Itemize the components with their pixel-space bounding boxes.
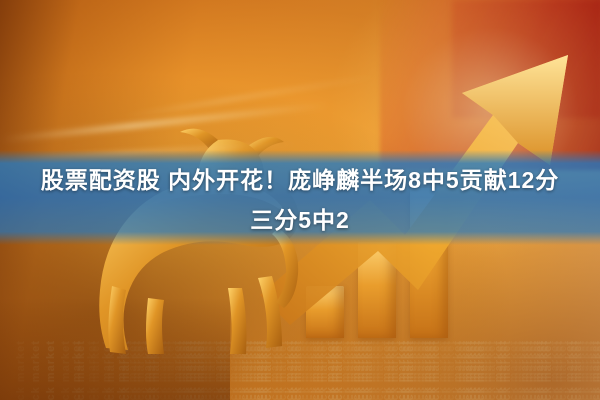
headline-line-2: 三分5中2 <box>250 201 350 235</box>
headline-text-block: 股票配资股 内外开花！庞峥麟半场8中5贡献12分 三分5中2 <box>0 150 600 245</box>
image-canvas: stock marketstock marketstock marketstoc… <box>0 0 600 400</box>
headline-line-1: 股票配资股 内外开花！庞峥麟半场8中5贡献12分 <box>41 161 560 195</box>
